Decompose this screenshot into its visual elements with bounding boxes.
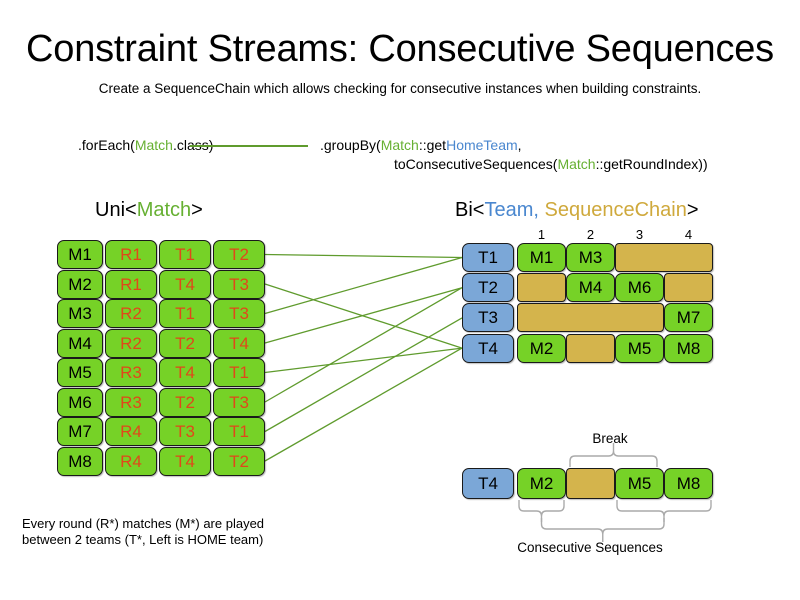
code-groupby-prefix: .groupBy(	[320, 137, 381, 153]
round-cell: R3	[105, 388, 157, 417]
round-column-header: 1	[532, 228, 552, 242]
bi-label-prefix: Bi<	[455, 199, 484, 221]
match-id-cell: M1	[57, 240, 103, 269]
uni-label-type: Match	[137, 199, 191, 221]
round-cell: R1	[105, 270, 157, 299]
match-to-team-link	[265, 258, 462, 314]
round-cell: R2	[105, 329, 157, 358]
round-cell: R4	[105, 447, 157, 476]
home-team-cell: T4	[159, 270, 211, 299]
break-team-cell: T4	[462, 468, 514, 499]
match-id-cell: M4	[57, 329, 103, 358]
home-team-cell: T2	[159, 388, 211, 417]
code-toconsecutive-prefix: toConsecutiveSequences(	[394, 156, 557, 172]
code-connector-line	[190, 145, 308, 147]
empty-slot-cell	[517, 273, 566, 302]
footnote-text: Every round (R*) matches (M*) are played…	[22, 516, 264, 548]
empty-slot-cell	[615, 243, 713, 272]
bi-label-team: Team	[484, 199, 533, 221]
bi-label-chain: SequenceChain	[545, 199, 687, 221]
uni-match-table: M1R1T1T2M2R1T4T3M3R2T1T3M4R2T2T4M5R3T4T1…	[57, 240, 267, 472]
bi-label-comma: ,	[533, 199, 544, 221]
code-groupby-method: ::get	[419, 137, 446, 153]
team-cell: T1	[462, 243, 514, 272]
code-snippet-groupby: .groupBy(Match::getHomeTeam, toConsecuti…	[320, 136, 708, 174]
sequence-match-cell: M4	[566, 273, 615, 302]
sequence-match-cell: M8	[664, 334, 713, 363]
slide-canvas: Constraint Streams: Consecutive Sequence…	[0, 0, 800, 600]
bi-stream-label: Bi<Team, SequenceChain>	[455, 198, 699, 222]
round-cell: R4	[105, 417, 157, 446]
match-to-team-link	[265, 348, 462, 372]
code-toconsecutive-suffix: ::getRoundIndex))	[596, 156, 708, 172]
empty-slot-cell	[664, 273, 713, 302]
uni-label-suffix: >	[191, 199, 203, 221]
away-team-cell: T1	[213, 417, 265, 446]
match-to-team-link	[265, 318, 462, 432]
sequence-match-cell: M5	[615, 334, 664, 363]
round-cell: R3	[105, 358, 157, 387]
home-team-cell: T4	[159, 447, 211, 476]
uni-stream-label: Uni<Match>	[95, 198, 203, 222]
home-team-cell: T4	[159, 358, 211, 387]
round-column-header: 3	[630, 228, 650, 242]
match-id-cell: M3	[57, 299, 103, 328]
break-brace	[570, 451, 657, 467]
consecutive-sequences-brace	[542, 518, 665, 534]
break-match-cell: M8	[664, 468, 713, 499]
code-groupby-type: Match	[381, 137, 419, 153]
page-subtitle: Create a SequenceChain which allows chec…	[0, 80, 800, 98]
sequence-match-cell: M2	[517, 334, 566, 363]
sequence-match-cell: M1	[517, 243, 566, 272]
away-team-cell: T4	[213, 329, 265, 358]
match-to-team-link	[265, 288, 462, 402]
match-id-cell: M5	[57, 358, 103, 387]
empty-slot-cell	[566, 334, 615, 363]
match-id-cell: M7	[57, 417, 103, 446]
home-team-cell: T2	[159, 329, 211, 358]
round-column-header: 4	[679, 228, 699, 242]
page-title: Constraint Streams: Consecutive Sequence…	[0, 27, 800, 71]
consecutive-sequences-label: Consecutive Sequences	[455, 540, 725, 556]
match-id-cell: M6	[57, 388, 103, 417]
code-groupby-suffix: ,	[518, 137, 522, 153]
team-cell: T3	[462, 303, 514, 332]
home-team-cell: T1	[159, 240, 211, 269]
break-empty-slot-cell	[566, 468, 615, 499]
round-cell: R1	[105, 240, 157, 269]
sequence-match-cell: M7	[664, 303, 713, 332]
away-team-cell: T3	[213, 299, 265, 328]
team-cell: T4	[462, 334, 514, 363]
match-to-team-link	[265, 255, 462, 258]
round-cell: R2	[105, 299, 157, 328]
away-team-cell: T2	[213, 447, 265, 476]
code-foreach-prefix: .forEach(	[78, 137, 135, 153]
code-foreach-type: Match	[135, 137, 173, 153]
break-label: Break	[545, 431, 675, 447]
empty-slot-cell	[517, 303, 664, 332]
match-to-team-link	[265, 284, 462, 348]
break-match-cell: M5	[615, 468, 664, 499]
bi-label-suffix: >	[687, 199, 699, 221]
away-team-cell: T1	[213, 358, 265, 387]
round-column-header: 2	[581, 228, 601, 242]
code-toconsecutive-line: toConsecutiveSequences(Match::getRoundIn…	[320, 155, 708, 174]
away-team-cell: T3	[213, 388, 265, 417]
code-toconsecutive-type: Match	[557, 156, 595, 172]
sequence-match-cell: M6	[615, 273, 664, 302]
sequence-match-cell: M3	[566, 243, 615, 272]
break-diagram: T4M2M5M8	[462, 468, 722, 500]
match-id-cell: M8	[57, 447, 103, 476]
match-to-team-link	[265, 288, 462, 343]
break-match-cell: M2	[517, 468, 566, 499]
home-team-cell: T1	[159, 299, 211, 328]
home-team-cell: T3	[159, 417, 211, 446]
uni-label-prefix: Uni<	[95, 199, 137, 221]
sequence-brace-second	[617, 500, 711, 516]
bi-sequence-table: T1M1M3T2M4M6T3M7T4M2M5M8	[462, 243, 722, 366]
team-cell: T2	[462, 273, 514, 302]
match-id-cell: M2	[57, 270, 103, 299]
match-to-team-link	[265, 348, 462, 461]
away-team-cell: T3	[213, 270, 265, 299]
away-team-cell: T2	[213, 240, 265, 269]
sequence-brace-first	[519, 500, 564, 516]
code-groupby-prop: HomeTeam	[446, 137, 518, 153]
